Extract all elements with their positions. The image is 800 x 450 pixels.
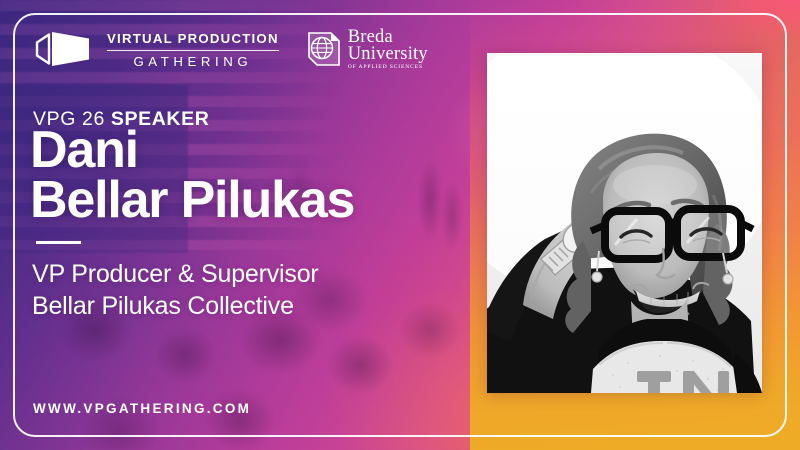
speaker-name-line1: Dani bbox=[30, 126, 354, 176]
section-divider-rule bbox=[36, 241, 81, 244]
vp-logo-line2: GATHERING bbox=[107, 55, 279, 68]
vp-logo-line1: VIRTUAL PRODUCTION bbox=[107, 32, 279, 45]
speaker-photo bbox=[487, 53, 762, 393]
breda-line2: University bbox=[348, 45, 428, 64]
speaker-name: Dani Bellar Pilukas bbox=[30, 126, 354, 226]
breda-globe-icon bbox=[307, 31, 341, 67]
logo-bar: VIRTUAL PRODUCTION GATHERING bbox=[33, 28, 428, 71]
breda-university-wordmark: Breda University OF APPLIED SCIENCES bbox=[348, 28, 428, 71]
speaker-role: VP Producer & Supervisor Bellar Pilukas … bbox=[32, 258, 319, 322]
speaker-role-line1: VP Producer & Supervisor bbox=[32, 258, 319, 290]
speaker-role-line2: Bellar Pilukas Collective bbox=[32, 290, 319, 322]
speaker-name-line2: Bellar Pilukas bbox=[30, 176, 354, 226]
website-url: WWW.VPGATHERING.COM bbox=[33, 401, 251, 416]
speaker-portrait-image bbox=[487, 53, 762, 393]
vp-gathering-wordmark: VIRTUAL PRODUCTION GATHERING bbox=[107, 30, 279, 68]
speaker-announcement-poster: VIRTUAL PRODUCTION GATHERING bbox=[0, 0, 800, 450]
vp-gathering-logo: VIRTUAL PRODUCTION GATHERING bbox=[33, 29, 279, 69]
projector-light-icon bbox=[33, 29, 93, 69]
breda-university-logo: Breda University OF APPLIED SCIENCES bbox=[307, 28, 428, 71]
vp-logo-rule bbox=[107, 50, 279, 51]
breda-line3: OF APPLIED SCIENCES bbox=[348, 65, 428, 71]
